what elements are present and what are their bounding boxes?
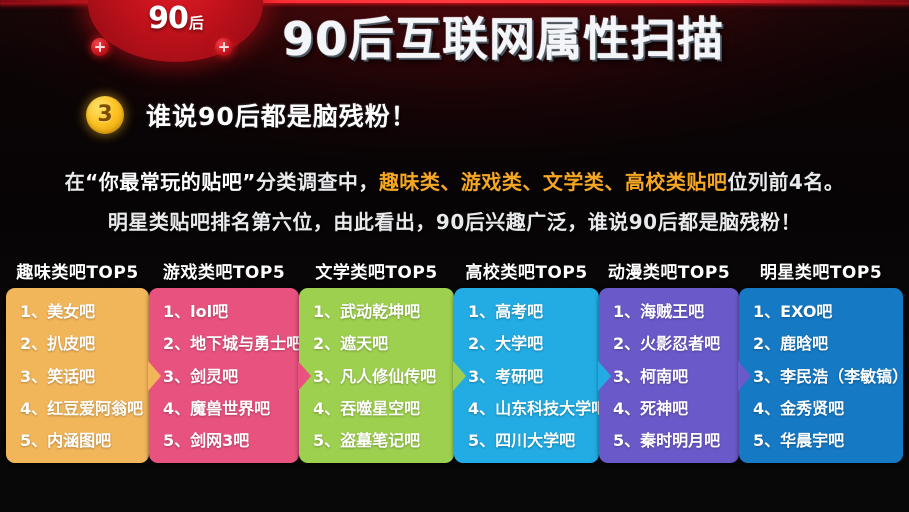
list-item[interactable]: 2、鹿晗吧 xyxy=(753,336,903,352)
ranking-column: 文学类吧TOP51、武动乾坤吧2、遮天吧3、凡人修仙传吧4、吞噬星空吧5、盗墓笔… xyxy=(299,258,454,463)
ranking-column: 明星类吧TOP51、EXO吧2、鹿晗吧3、李民浩（李敏镐）吧4、金秀贤吧5、华晨… xyxy=(739,258,903,463)
list-item[interactable]: 5、秦时明月吧 xyxy=(613,433,739,449)
section-title: 谁说90后都是脑残粉！ xyxy=(146,97,417,133)
list-item[interactable]: 1、武动乾坤吧 xyxy=(313,304,454,320)
column-body: 1、美女吧2、扒皮吧3、笑话吧4、红豆爱阿翁吧5、内涵图吧 xyxy=(6,288,149,463)
list-item[interactable]: 5、剑网3吧 xyxy=(163,433,299,449)
ribbon-label-suffix: 后 xyxy=(189,14,203,32)
list-item[interactable]: 2、扒皮吧 xyxy=(20,336,149,352)
ranking-columns: 趣味类吧TOP51、美女吧2、扒皮吧3、笑话吧4、红豆爱阿翁吧5、内涵图吧游戏类… xyxy=(6,258,903,463)
list-item[interactable]: 3、笑话吧 xyxy=(20,369,149,385)
list-item[interactable]: 4、魔兽世界吧 xyxy=(163,401,299,417)
list-item[interactable]: 4、吞噬星空吧 xyxy=(313,401,454,417)
para1-seg1: 在 xyxy=(65,170,86,194)
infographic-page: 90后 90后互联网属性扫描 3 谁说90后都是脑残粉！ 在“你最常玩的贴吧”分… xyxy=(0,0,909,512)
plus-circle-icon xyxy=(91,38,109,56)
red-ribbon-banner: 90后 xyxy=(88,0,263,62)
list-item[interactable]: 5、盗墓笔记吧 xyxy=(313,433,454,449)
plus-circle-icon xyxy=(215,38,233,56)
para1-quoted: “你最常玩的贴吧” xyxy=(85,170,256,194)
para1-highlight: 趣味类、游戏类、文学类、高校类贴吧 xyxy=(379,170,728,194)
list-item[interactable]: 4、红豆爱阿翁吧 xyxy=(20,401,149,417)
list-item[interactable]: 5、四川大学吧 xyxy=(468,433,599,449)
column-header: 游戏类吧TOP5 xyxy=(149,258,299,288)
ranking-column: 游戏类吧TOP51、lol吧2、地下城与勇士吧3、剑灵吧4、魔兽世界吧5、剑网3… xyxy=(149,258,299,463)
column-header: 文学类吧TOP5 xyxy=(299,258,454,288)
list-item[interactable]: 1、美女吧 xyxy=(20,304,149,320)
list-item[interactable]: 3、李民浩（李敏镐）吧 xyxy=(753,369,903,385)
section-heading: 3 谁说90后都是脑残粉！ xyxy=(86,96,417,134)
list-item[interactable]: 1、高考吧 xyxy=(468,304,599,320)
list-item[interactable]: 1、EXO吧 xyxy=(753,304,903,320)
ribbon-label-text: 90 xyxy=(148,1,188,36)
column-body: 1、高考吧2、大学吧3、考研吧4、山东科技大学吧5、四川大学吧 xyxy=(454,288,599,463)
list-item[interactable]: 2、遮天吧 xyxy=(313,336,454,352)
step-number-badge: 3 xyxy=(86,96,124,134)
list-item[interactable]: 1、海贼王吧 xyxy=(613,304,739,320)
list-item[interactable]: 3、柯南吧 xyxy=(613,369,739,385)
paragraph-line-1: 在“你最常玩的贴吧”分类调查中，趣味类、游戏类、文学类、高校类贴吧位列前4名。 xyxy=(0,166,909,195)
column-header: 趣味类吧TOP5 xyxy=(6,258,149,288)
list-item[interactable]: 4、死神吧 xyxy=(613,401,739,417)
list-item[interactable]: 3、剑灵吧 xyxy=(163,369,299,385)
list-item[interactable]: 3、凡人修仙传吧 xyxy=(313,369,454,385)
list-item[interactable]: 2、地下城与勇士吧 xyxy=(163,336,299,352)
list-item[interactable]: 1、lol吧 xyxy=(163,304,299,320)
list-item[interactable]: 2、大学吧 xyxy=(468,336,599,352)
list-item[interactable]: 3、考研吧 xyxy=(468,369,599,385)
column-body: 1、海贼王吧2、火影忍者吧3、柯南吧4、死神吧5、秦时明月吧 xyxy=(599,288,739,463)
column-body: 1、lol吧2、地下城与勇士吧3、剑灵吧4、魔兽世界吧5、剑网3吧 xyxy=(149,288,299,463)
column-body: 1、武动乾坤吧2、遮天吧3、凡人修仙传吧4、吞噬星空吧5、盗墓笔记吧 xyxy=(299,288,454,463)
ranking-column: 动漫类吧TOP51、海贼王吧2、火影忍者吧3、柯南吧4、死神吧5、秦时明月吧 xyxy=(599,258,739,463)
para1-seg5: 位列前4名。 xyxy=(727,170,844,194)
para1-seg3: 分类调查中， xyxy=(256,170,379,194)
list-item[interactable]: 4、金秀贤吧 xyxy=(753,401,903,417)
column-header: 明星类吧TOP5 xyxy=(739,258,903,288)
list-item[interactable]: 4、山东科技大学吧 xyxy=(468,401,599,417)
column-header: 高校类吧TOP5 xyxy=(454,258,599,288)
ranking-column: 趣味类吧TOP51、美女吧2、扒皮吧3、笑话吧4、红豆爱阿翁吧5、内涵图吧 xyxy=(6,258,149,463)
list-item[interactable]: 5、内涵图吧 xyxy=(20,433,149,449)
ribbon-label: 90后 xyxy=(88,4,263,34)
column-header: 动漫类吧TOP5 xyxy=(599,258,739,288)
list-item[interactable]: 5、华晨宇吧 xyxy=(753,433,903,449)
ranking-column: 高校类吧TOP51、高考吧2、大学吧3、考研吧4、山东科技大学吧5、四川大学吧 xyxy=(454,258,599,463)
page-title: 90后互联网属性扫描 xyxy=(268,12,738,66)
column-body: 1、EXO吧2、鹿晗吧3、李民浩（李敏镐）吧4、金秀贤吧5、华晨宇吧 xyxy=(739,288,903,463)
list-item[interactable]: 2、火影忍者吧 xyxy=(613,336,739,352)
paragraph-line-2: 明星类贴吧排名第六位，由此看出，90后兴趣广泛，谁说90后都是脑残粉！ xyxy=(0,206,909,235)
